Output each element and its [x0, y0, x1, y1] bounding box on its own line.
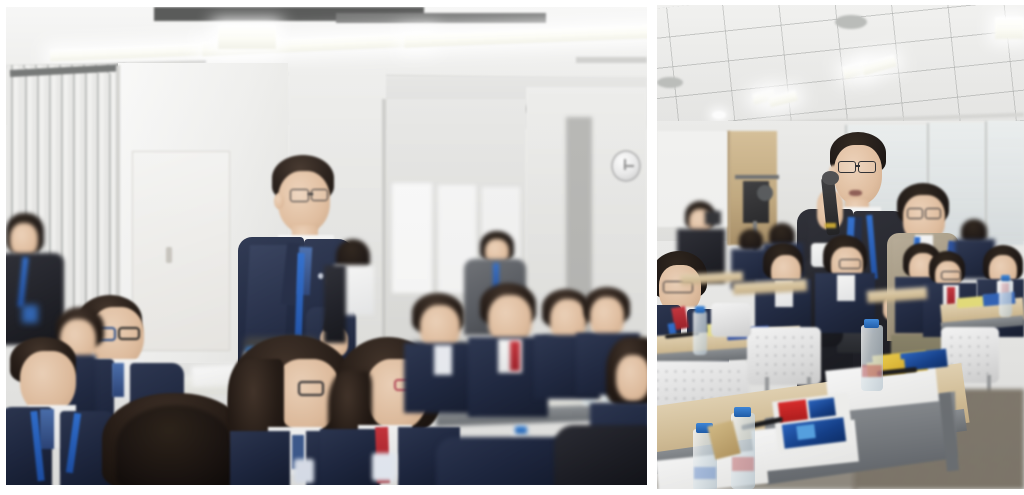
photo-right	[657, 5, 1024, 489]
photo-left	[6, 7, 647, 485]
photo-collage: Seminar room: a young man in a navy suit…	[0, 0, 1024, 495]
